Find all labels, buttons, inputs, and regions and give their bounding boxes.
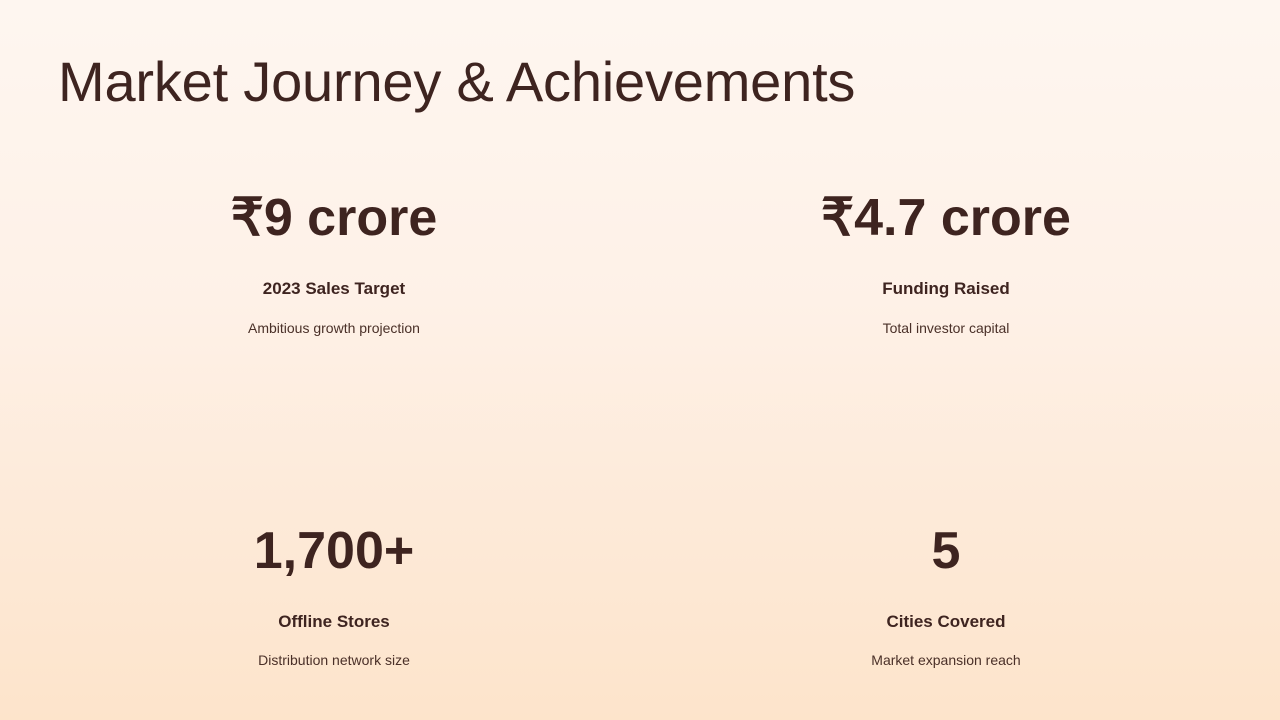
stat-description: Market expansion reach — [871, 653, 1020, 668]
stats-grid: ₹9 crore 2023 Sales Target Ambitious gro… — [28, 160, 1252, 705]
stat-label: Funding Raised — [882, 280, 1010, 299]
stat-description: Ambitious growth projection — [248, 321, 420, 336]
stat-description: Total investor capital — [883, 321, 1010, 336]
stat-card-sales-target: ₹9 crore 2023 Sales Target Ambitious gro… — [28, 160, 640, 433]
stat-value: ₹9 crore — [231, 192, 438, 244]
stat-label: Offline Stores — [278, 613, 389, 632]
page-title: Market Journey & Achievements — [58, 54, 1218, 110]
stat-label: Cities Covered — [886, 613, 1005, 632]
stat-value: ₹4.7 crore — [821, 192, 1071, 244]
stat-description: Distribution network size — [258, 653, 410, 668]
stat-card-cities-covered: 5 Cities Covered Market expansion reach — [640, 433, 1252, 706]
stat-value: 5 — [932, 525, 961, 577]
stat-card-funding-raised: ₹4.7 crore Funding Raised Total investor… — [640, 160, 1252, 433]
stat-value: 1,700+ — [254, 525, 415, 577]
stat-label: 2023 Sales Target — [263, 280, 405, 299]
stat-card-offline-stores: 1,700+ Offline Stores Distribution netwo… — [28, 433, 640, 706]
slide-canvas: Market Journey & Achievements ₹9 crore 2… — [0, 0, 1280, 720]
